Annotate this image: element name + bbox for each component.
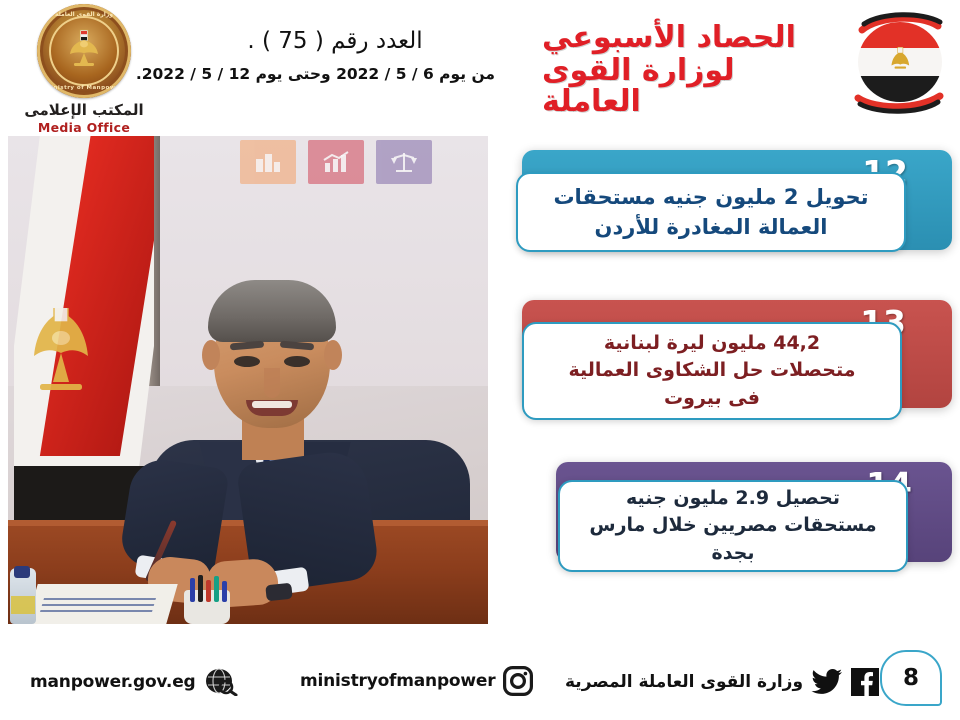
seal-bottom-text: Ministry of Manpower <box>37 85 131 91</box>
website-label: manpower.gov.eg <box>30 672 196 692</box>
card-14-text: تحصيل 2.9 مليون جنيه مستحقات مصريين خلال… <box>589 485 876 568</box>
brand-title-line2: لوزارة القوى العاملة <box>542 55 842 117</box>
website-link[interactable]: manpower.gov.eg <box>30 668 238 696</box>
card-12-text: تحويل 2 مليون جنيه مستحقات العمالة المغا… <box>553 182 868 243</box>
scales-icon <box>376 140 432 184</box>
page-header: وزارة القوى العاملة Ministry of Manpower… <box>0 0 960 132</box>
flag-eagle-icon <box>28 308 94 400</box>
card-12-body: تحويل 2 مليون جنيه مستحقات العمالة المغا… <box>516 172 906 252</box>
issue-date-range: من يوم 6 / 5 / 2022 وحتى يوم 12 / 5 / 20… <box>175 65 495 83</box>
facebook-icon <box>851 668 879 696</box>
card-13-body: 44,2 مليون ليرة لبنانية متحصلات حل الشكا… <box>522 322 902 420</box>
issue-number: العدد رقم ( 75 ) . <box>175 28 495 54</box>
card-13-text: 44,2 مليون ليرة لبنانية متحصلات حل الشكا… <box>569 330 856 413</box>
social-handle-group[interactable]: وزارة القوى العاملة المصرية <box>565 668 879 696</box>
media-office-label-en: Media Office <box>8 120 160 135</box>
instagram-icon <box>503 666 533 696</box>
ministry-seal-icon: وزارة القوى العاملة Ministry of Manpower <box>37 4 131 98</box>
social-handle-label: وزارة القوى العاملة المصرية <box>565 672 803 692</box>
growth-chart-icon <box>308 140 364 184</box>
globe-mouse-icon <box>204 668 238 696</box>
egypt-flag-orb-icon <box>844 6 952 118</box>
issue-info: العدد رقم ( 75 ) . من يوم 6 / 5 / 2022 و… <box>175 28 495 83</box>
instagram-link[interactable]: ministryofmanpower <box>300 666 533 696</box>
brand-title: الحصاد الأسبوعي لوزارة القوى العاملة <box>542 22 842 118</box>
instagram-label: ministryofmanpower <box>300 671 495 691</box>
minister-photo <box>8 136 488 624</box>
twitter-icon <box>811 669 843 695</box>
infographic-page: وزارة القوى العاملة Ministry of Manpower… <box>0 0 960 720</box>
eagle-emblem-icon <box>67 27 101 67</box>
city-icon <box>240 140 296 184</box>
brand-title-line1: الحصاد الأسبوعي <box>542 22 842 53</box>
card-14-body: تحصيل 2.9 مليون جنيه مستحقات مصريين خلال… <box>558 480 908 572</box>
media-office-label-ar: المكتب الإعلامى <box>8 101 160 119</box>
cards-column: 12 تحويل 2 مليون جنيه مستحقات العمالة ال… <box>460 150 960 620</box>
page-footer: manpower.gov.eg ministryofmanpower وزارة… <box>0 634 960 720</box>
wristwatch <box>265 583 293 602</box>
page-number-badge: 8 <box>880 650 942 706</box>
